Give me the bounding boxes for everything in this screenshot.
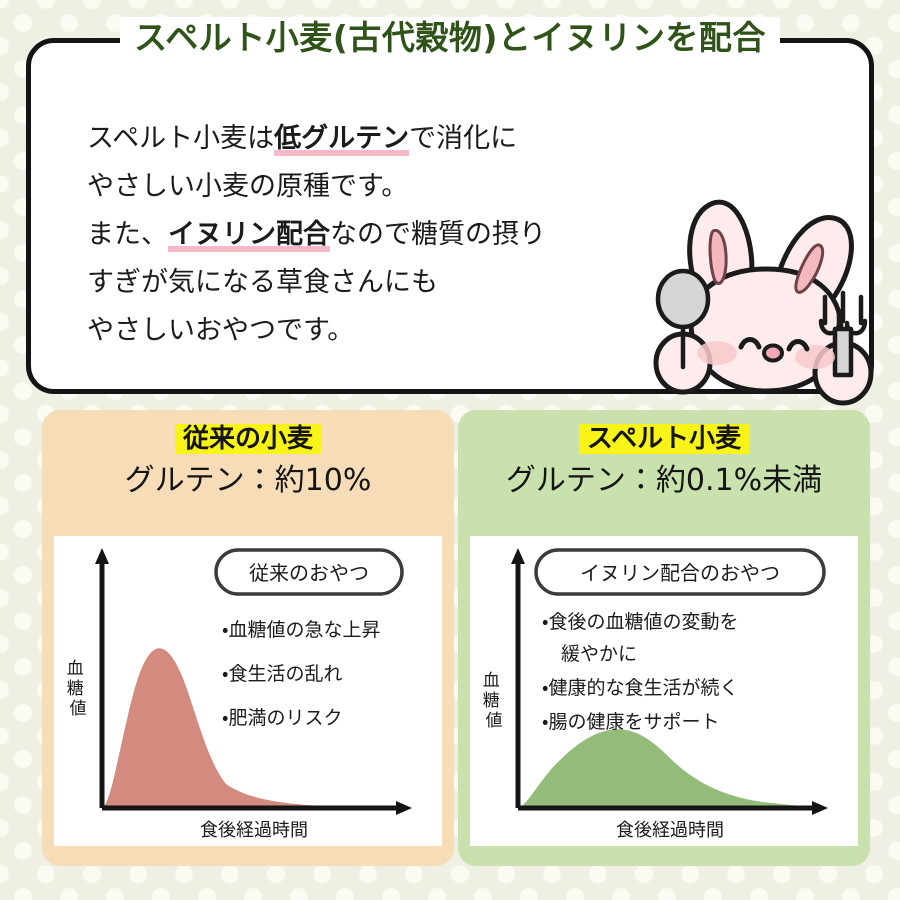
- chart-badge-label: 従来のおやつ: [249, 561, 369, 585]
- chart-bullet-1b: 緩やかに: [542, 643, 637, 665]
- intro-text: また、: [87, 219, 168, 250]
- highlighted-term-inulin: イヌリン配合: [168, 219, 330, 252]
- intro-body: スペルト小麦は低グルテンで消化に やさしい小麦の原種です。 また、イヌリン配合な…: [87, 115, 687, 355]
- chart-y-axis-label: 血 糖 値: [67, 659, 89, 719]
- intro-line-4: すぎが気になる草食さんにも: [87, 259, 687, 307]
- chart-bullet-3: ・腸の健康をサポート: [542, 711, 719, 733]
- chart-bullet-1: ・血糖値の急な上昇: [222, 619, 380, 641]
- cheek-right: [795, 345, 835, 369]
- blood-sugar-curve-green: [518, 729, 800, 808]
- intro-line-1: スペルト小麦は低グルテンで消化に: [87, 115, 687, 163]
- intro-text: スペルト小麦は: [87, 123, 274, 154]
- chart-bullet-2: ・健康的な食生活が続く: [542, 677, 738, 699]
- intro-card: スペルト小麦(古代穀物)とイヌリンを配合 スペルト小麦は低グルテンで消化に やさ…: [26, 38, 874, 394]
- panel-heading-conventional: 従来の小麦: [42, 424, 454, 454]
- panel-spelt-wheat: スペルト小麦 グルテン：約0.1%未満 イヌリン配合のおやつ ・食後の血糖値の変…: [458, 410, 870, 866]
- panel-subheading-spelt: グルテン：約0.1%未満: [458, 464, 870, 497]
- intro-line-5: やさしいおやつです。: [87, 307, 687, 355]
- panel-subheading-conventional: グルテン：約10%: [42, 464, 454, 497]
- panel-conventional-wheat: 従来の小麦 グルテン：約10% 従来のおやつ ・血糖値の急な上昇 ・食生活の乱れ…: [42, 410, 454, 866]
- intro-line-2: やさしい小麦の原種です。: [87, 163, 687, 211]
- comparison-panels: 従来の小麦 グルテン：約10% 従来のおやつ ・血糖値の急な上昇 ・食生活の乱れ…: [0, 410, 900, 870]
- intro-text: で消化に: [409, 123, 517, 154]
- page-title-text: スペルト小麦(古代穀物)とイヌリンを配合: [120, 17, 780, 58]
- cheek-left: [697, 341, 737, 365]
- intro-text: やさしい小麦の原種です。: [87, 171, 408, 202]
- chart-bullet-2: ・食生活の乱れ: [222, 663, 342, 685]
- intro-text: やさしいおやつです。: [87, 315, 354, 346]
- chart-x-axis-label: 食後経過時間: [200, 820, 308, 841]
- chart-y-axis-label: 血 糖 値: [483, 671, 505, 731]
- chart-badge-label: イヌリン配合のおやつ: [580, 561, 780, 585]
- intro-text: すぎが気になる草食さんにも: [87, 267, 438, 298]
- intro-text: なので糖質の摂り: [330, 219, 546, 250]
- panel-heading-spelt: スペルト小麦: [458, 424, 870, 454]
- intro-line-3: また、イヌリン配合なので糖質の摂り: [87, 211, 687, 259]
- highlighted-term-low-gluten: 低グルテン: [274, 123, 409, 156]
- chart-x-axis-label: 食後経過時間: [616, 820, 724, 841]
- chart-spelt: イヌリン配合のおやつ ・食後の血糖値の変動を 緩やかに ・健康的な食生活が続く …: [470, 536, 858, 846]
- panel-heading-text: スペルト小麦: [579, 424, 749, 454]
- chart-bullet-1a: ・食後の血糖値の変動を: [542, 611, 738, 633]
- chart-bullet-3: ・肥満のリスク: [222, 707, 342, 729]
- panel-heading-text: 従来の小麦: [175, 424, 321, 454]
- rabbit-mascot-icon: [643, 191, 893, 423]
- page-title: スペルト小麦(古代穀物)とイヌリンを配合: [31, 17, 869, 58]
- chart-conventional: 従来のおやつ ・血糖値の急な上昇 ・食生活の乱れ ・肥満のリスク 血 糖 値 食…: [54, 536, 442, 846]
